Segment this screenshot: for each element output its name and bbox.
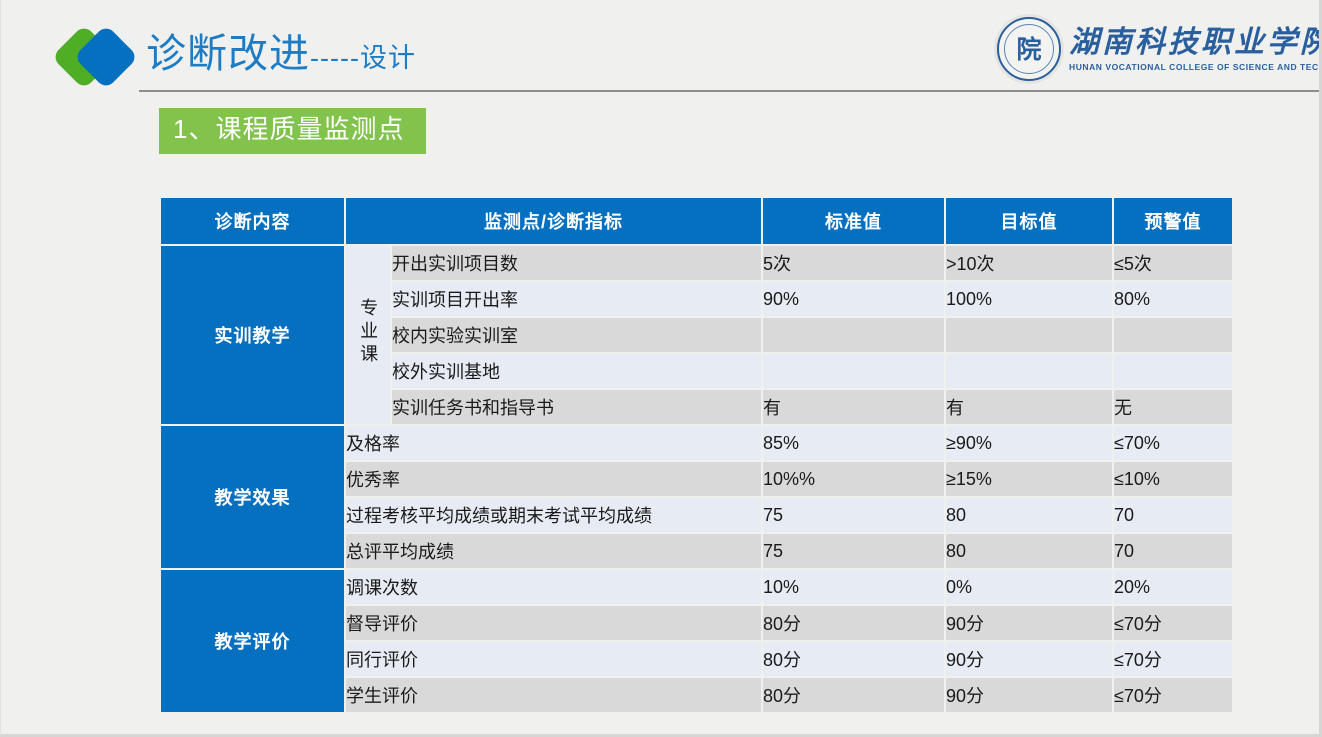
cell-indicator: 过程考核平均成绩或期末考试平均成绩: [346, 498, 761, 532]
table-body: 实训教学专业课开出实训项目数5次>10次≤5次实训项目开出率90%100%80%…: [161, 246, 1232, 712]
slide: 诊断改进-----设计 院 湖南科技职业学院 HUNAN VOCATIONAL …: [0, 0, 1322, 737]
cell-warning-value: 无: [1114, 390, 1232, 424]
cell-indicator: 校内实验实训室: [392, 318, 761, 352]
cell-target-value: 0%: [946, 570, 1112, 604]
section-heading: 1、课程质量监测点: [159, 108, 426, 154]
page-title-separator: -----: [310, 43, 360, 73]
header-divider: [139, 90, 1319, 92]
cell-warning-value: ≤10%: [1114, 462, 1232, 496]
table-row: 实训教学专业课开出实训项目数5次>10次≤5次: [161, 246, 1232, 280]
cell-indicator: 督导评价: [346, 606, 761, 640]
quality-monitoring-table-wrap: 诊断内容 监测点/诊断指标 标准值 目标值 预警值 实训教学专业课开出实训项目数…: [159, 196, 1226, 714]
cell-target-value: 90分: [946, 678, 1112, 712]
cell-standard-value: 85%: [763, 426, 944, 460]
col-header-target-value: 目标值: [946, 198, 1112, 244]
page-title-sub: 设计: [360, 43, 416, 73]
cell-warning-value: 80%: [1114, 282, 1232, 316]
table-row: 教学评价调课次数10%0%20%: [161, 570, 1232, 604]
school-name-cn: 湖南科技职业学院: [1069, 26, 1322, 60]
cell-standard-value: [763, 354, 944, 388]
cell-standard-value: 10%%: [763, 462, 944, 496]
cell-warning-value: ≤70分: [1114, 606, 1232, 640]
col-header-monitoring-point: 监测点/诊断指标: [346, 198, 761, 244]
cell-indicator: 开出实训项目数: [392, 246, 761, 280]
diamond-logo-icon: [59, 26, 145, 88]
cell-standard-value: 5次: [763, 246, 944, 280]
cell-target-value: 80: [946, 534, 1112, 568]
table-group-cell: 教学效果: [161, 426, 344, 568]
cell-target-value: 有: [946, 390, 1112, 424]
cell-indicator: 学生评价: [346, 678, 761, 712]
cell-standard-value: 10%: [763, 570, 944, 604]
cell-warning-value: 70: [1114, 534, 1232, 568]
cell-indicator: 实训项目开出率: [392, 282, 761, 316]
col-header-standard-value: 标准值: [763, 198, 944, 244]
cell-standard-value: 75: [763, 534, 944, 568]
cell-warning-value: [1114, 318, 1232, 352]
cell-warning-value: [1114, 354, 1232, 388]
cell-target-value: ≥15%: [946, 462, 1112, 496]
cell-indicator: 及格率: [346, 426, 761, 460]
cell-target-value: 100%: [946, 282, 1112, 316]
cell-target-value: [946, 354, 1112, 388]
cell-standard-value: 80分: [763, 642, 944, 676]
page-title-main: 诊断改进: [146, 32, 310, 76]
cell-standard-value: 90%: [763, 282, 944, 316]
cell-indicator: 校外实训基地: [392, 354, 761, 388]
table-group-cell: 实训教学: [161, 246, 344, 424]
table-header: 诊断内容 监测点/诊断指标 标准值 目标值 预警值: [161, 198, 1232, 244]
cell-target-value: ≥90%: [946, 426, 1112, 460]
school-seal-icon: 院: [997, 17, 1061, 81]
col-header-warning-value: 预警值: [1114, 198, 1232, 244]
table-row: 教学效果及格率85%≥90%≤70%: [161, 426, 1232, 460]
cell-target-value: >10次: [946, 246, 1112, 280]
cell-warning-value: ≤70%: [1114, 426, 1232, 460]
cell-standard-value: [763, 318, 944, 352]
school-name-en: HUNAN VOCATIONAL COLLEGE OF SCIENCE AND …: [1069, 62, 1322, 72]
cell-warning-value: ≤70分: [1114, 642, 1232, 676]
table-subgroup-cell: 专业课: [346, 246, 390, 424]
cell-warning-value: ≤5次: [1114, 246, 1232, 280]
cell-warning-value: 20%: [1114, 570, 1232, 604]
cell-standard-value: 80分: [763, 606, 944, 640]
seal-glyph: 院: [1016, 37, 1041, 62]
table-subgroup-label: 专业课: [358, 298, 378, 367]
cell-standard-value: 80分: [763, 678, 944, 712]
cell-warning-value: 70: [1114, 498, 1232, 532]
page-title: 诊断改进-----设计: [146, 32, 416, 76]
cell-indicator: 调课次数: [346, 570, 761, 604]
cell-target-value: 90分: [946, 642, 1112, 676]
table-header-row: 诊断内容 监测点/诊断指标 标准值 目标值 预警值: [161, 198, 1232, 244]
cell-target-value: 90分: [946, 606, 1112, 640]
cell-indicator: 同行评价: [346, 642, 761, 676]
col-header-diagnosis-content: 诊断内容: [161, 198, 344, 244]
cell-warning-value: ≤70分: [1114, 678, 1232, 712]
cell-indicator: 优秀率: [346, 462, 761, 496]
cell-standard-value: 75: [763, 498, 944, 532]
cell-indicator: 实训任务书和指导书: [392, 390, 761, 424]
school-logo: 院 湖南科技职业学院 HUNAN VOCATIONAL COLLEGE OF S…: [991, 12, 1301, 86]
cell-target-value: [946, 318, 1112, 352]
cell-standard-value: 有: [763, 390, 944, 424]
cell-target-value: 80: [946, 498, 1112, 532]
quality-monitoring-table: 诊断内容 监测点/诊断指标 标准值 目标值 预警值 实训教学专业课开出实训项目数…: [159, 196, 1234, 714]
cell-indicator: 总评平均成绩: [346, 534, 761, 568]
school-name-block: 湖南科技职业学院 HUNAN VOCATIONAL COLLEGE OF SCI…: [1069, 26, 1322, 72]
table-group-cell: 教学评价: [161, 570, 344, 712]
